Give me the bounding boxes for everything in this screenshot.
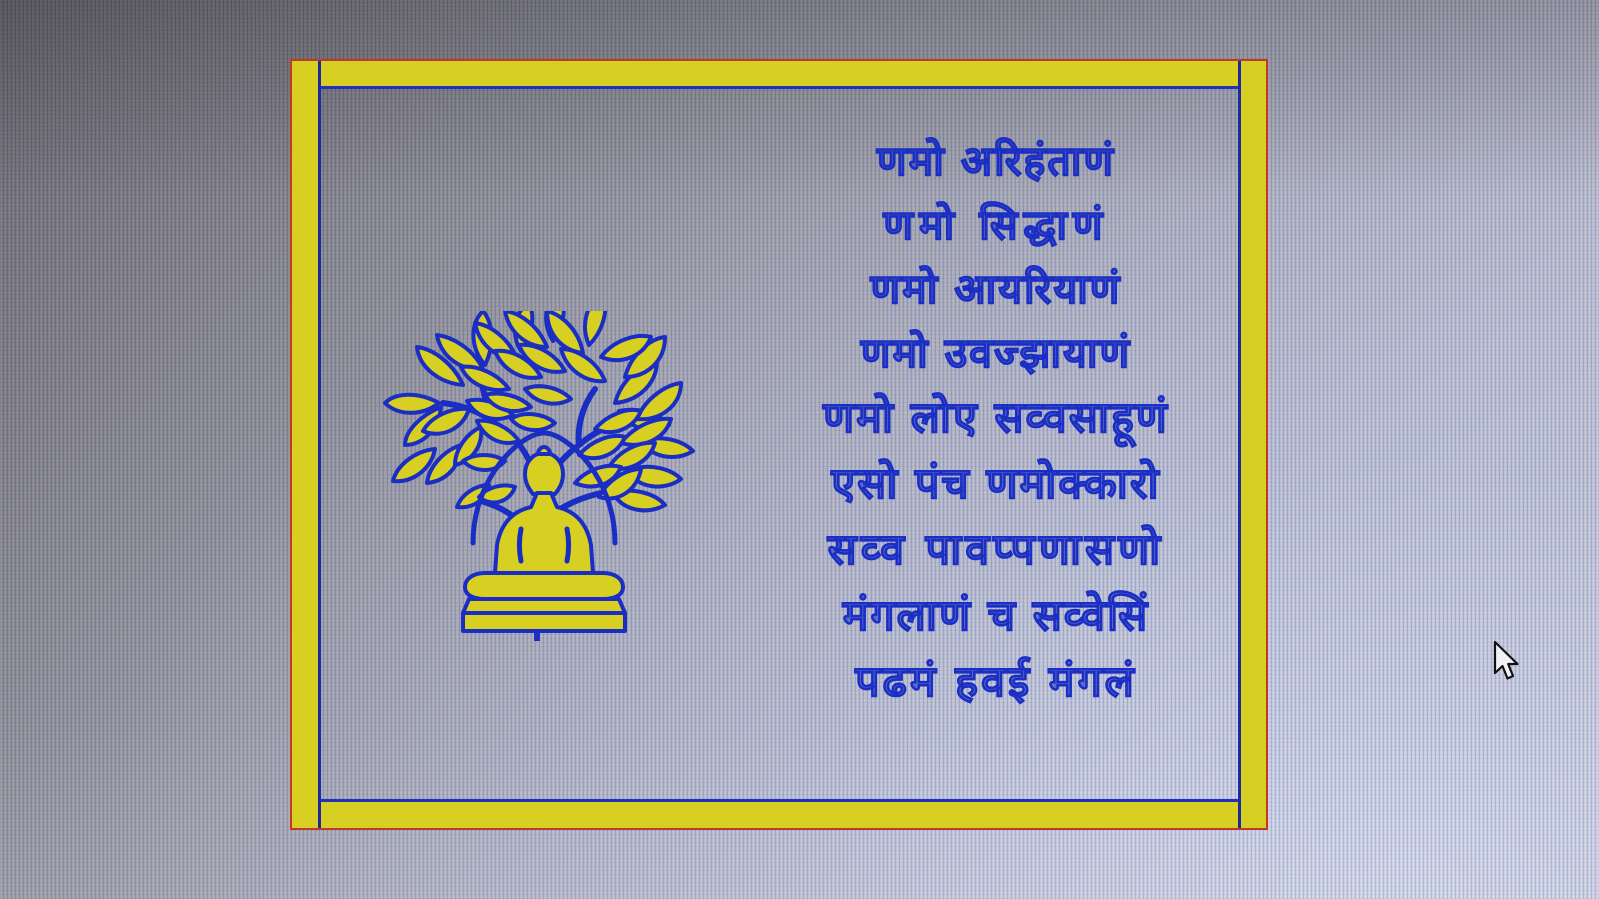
mantra-line-4: णमो उवज्झायाणं	[861, 333, 1131, 374]
mantra-line-1: णमो अरिहंताणं	[877, 141, 1115, 182]
mantra-line-8: मंगलाणं च सव्वेसिं	[843, 595, 1149, 638]
mantra-line-2: णमो सिद्धाणं	[883, 205, 1108, 246]
mantra-line-3: णमो आयरियाणं	[871, 269, 1122, 310]
tirthankara-under-tree-illustration	[369, 311, 719, 641]
mantra-line-9: पढमं हवई मंगलं	[855, 661, 1137, 704]
mantra-poster: णमो अरिहंताणं णमो सिद्धाणं णमो आयरियाणं …	[290, 59, 1268, 830]
poster-content-area: णमो अरिहंताणं णमो सिद्धाणं णमो आयरियाणं …	[321, 89, 1238, 799]
mantra-line-7: सव्व पावप्पणासणो	[828, 529, 1165, 572]
navkar-mantra-text-block: णमो अरिहंताणं णमो सिद्धाणं णमो आयरियाणं …	[731, 141, 1261, 704]
mantra-line-5: णमो लोए सव्वसाहूणं	[823, 397, 1169, 440]
mantra-line-6: एसो पंच णमोक्कारो	[831, 463, 1160, 506]
